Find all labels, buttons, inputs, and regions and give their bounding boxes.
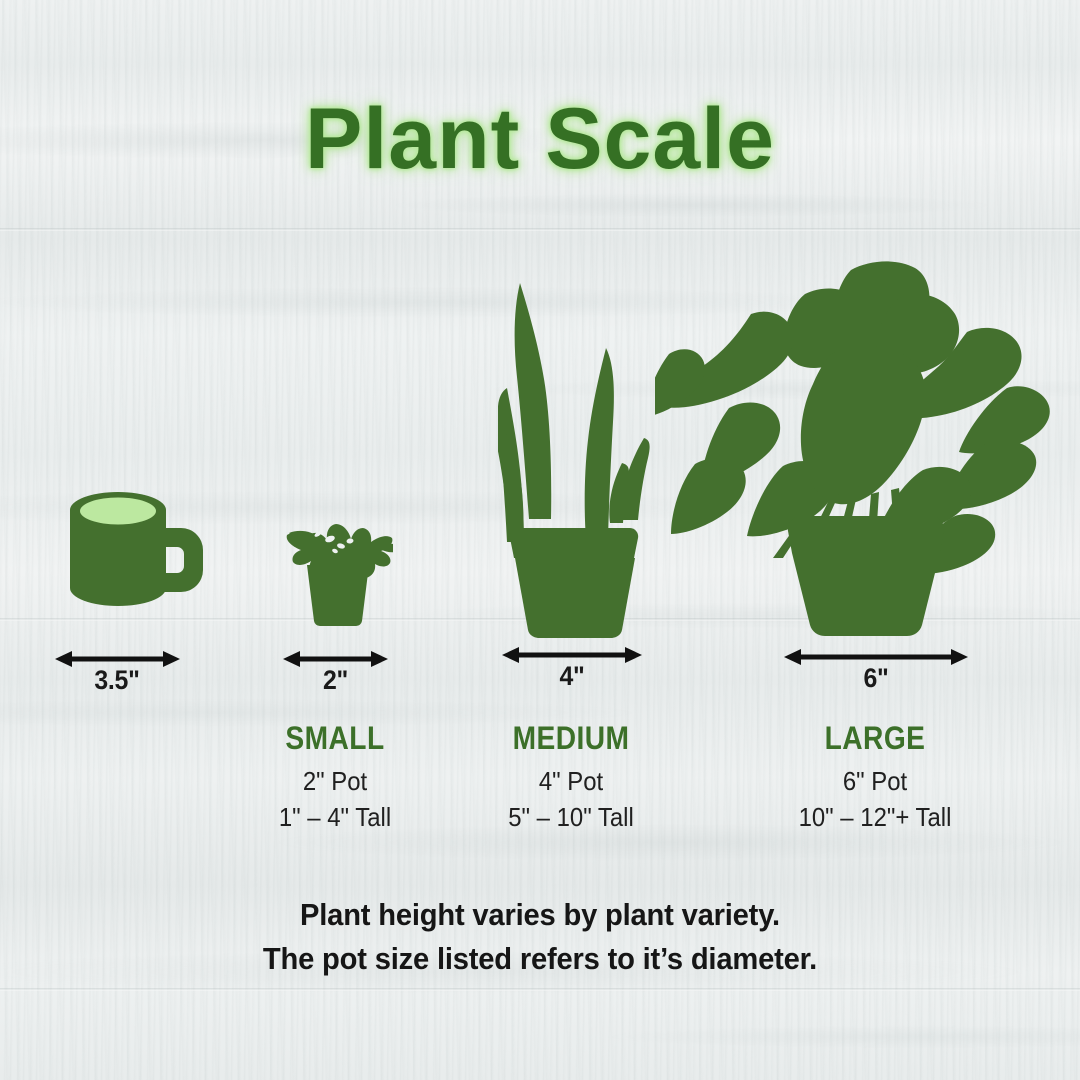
infographic-canvas: Plant Scale 3.5" [0,0,1080,1080]
measure-label-medium: 4" [508,661,637,692]
succulent-plant-icon [283,505,393,630]
height-range-medium: 5" – 10" Tall [461,800,682,836]
size-name-small: SMALL [229,720,440,757]
size-name-large: LARGE [769,720,980,757]
caption-large: LARGE 6" Pot 10" – 12"+ Tall [755,720,995,836]
small-plant-figure: 2" [283,505,393,630]
height-range-small: 1" – 4" Tall [225,800,446,836]
size-name-medium: MEDIUM [465,720,676,757]
coffee-mug-icon [55,480,215,630]
snake-plant-icon [498,278,653,638]
pot-size-small: 2" Pot [225,764,446,800]
plank-seam-bottom [0,988,1080,991]
measure-label-mug: 3.5" [53,665,182,696]
measure-label-large: 6" [791,663,960,694]
footer-line-1: Plant height varies by plant variety. [32,893,1047,937]
height-range-large: 10" – 12"+ Tall [765,800,986,836]
medium-plant-figure: 4" [498,278,653,638]
measure-label-small: 2" [273,665,397,696]
footer-line-2: The pot size listed refers to it’s diame… [32,937,1047,981]
pot-size-medium: 4" Pot [461,764,682,800]
caption-small: SMALL 2" Pot 1" – 4" Tall [215,720,455,836]
pot-size-large: 6" Pot [765,764,986,800]
leafy-plant-icon [655,258,1065,638]
mug-figure: 3.5" [55,480,215,630]
page-title: Plant Scale [0,96,1080,182]
large-plant-figure: 6" [655,258,1065,638]
footer-note: Plant height varies by plant variety. Th… [0,893,1080,981]
caption-medium: MEDIUM 4" Pot 5" – 10" Tall [451,720,691,836]
plank-seam-top [0,228,1080,231]
